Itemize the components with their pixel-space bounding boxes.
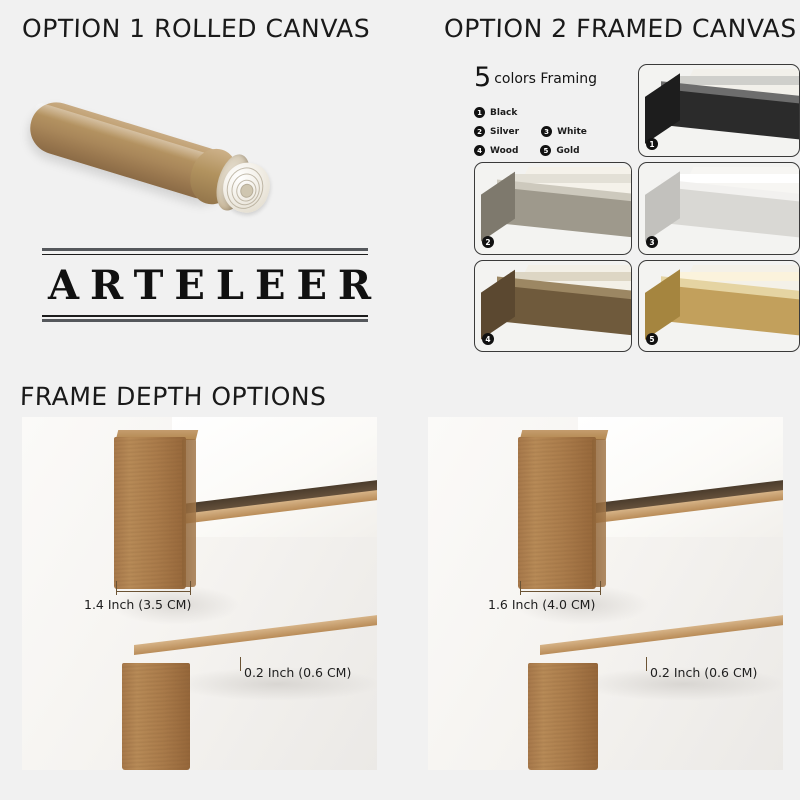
framing-legend-count: 5	[474, 62, 491, 93]
rolled-canvas-illustration	[24, 62, 292, 202]
frame-swatch-gold[interactable]: 5	[638, 260, 800, 352]
frame-stile	[114, 437, 186, 589]
frame-corner-icon	[639, 65, 799, 156]
frame-swatch-wood[interactable]: 4	[474, 260, 632, 352]
shipping-tube-icon	[19, 81, 283, 236]
dim-tick-right	[600, 581, 601, 595]
number-badge-icon: 3	[646, 236, 658, 248]
framing-legend-item-white[interactable]: 3White	[541, 126, 587, 137]
dim-tick-thickness	[240, 657, 241, 671]
framing-legend-heading-text: colors Framing	[494, 71, 597, 87]
depth-dimension-label: 1.4 Inch (3.5 CM)	[84, 597, 191, 612]
frame-stile-side	[592, 439, 606, 587]
brand-logo: ARTELEER	[42, 248, 368, 322]
framing-legend-label: Wood	[490, 146, 518, 156]
depth-dimension-label: 1.6 Inch (4.0 CM)	[488, 597, 595, 612]
thickness-dimension-label: 0.2 Inch (0.6 CM)	[650, 665, 757, 680]
frame-depth-photo-right: 1.6 Inch (4.0 CM) 0.2 Inch (0.6 CM)	[428, 417, 783, 770]
framing-legend: 5colors Framing 1Black2Silver3White4Wood…	[474, 64, 622, 156]
option1-title: OPTION 1 ROLLED CANVAS	[22, 14, 371, 43]
frame-swatch-silver[interactable]: 2	[474, 162, 632, 255]
dim-line-depth	[520, 591, 600, 592]
frame-color-swatch-grid: 5colors Framing 1Black2Silver3White4Wood…	[470, 62, 800, 352]
dim-line-depth	[116, 591, 190, 592]
frame-depth-photo-left: 1.4 Inch (3.5 CM) 0.2 Inch (0.6 CM)	[22, 417, 377, 770]
frame-depth-title: FRAME DEPTH OPTIONS	[20, 382, 327, 411]
framing-legend-rows: 1Black2Silver3White4Wood5Gold	[474, 107, 622, 156]
brand-rule-top-thick	[42, 248, 368, 251]
frame-stile-side	[182, 439, 196, 587]
frame-corner-icon	[475, 163, 631, 254]
number-badge-icon: 4	[474, 145, 485, 156]
brand-rule-bottom-thick	[42, 319, 368, 322]
framing-legend-label: Black	[490, 108, 517, 118]
number-badge-icon: 5	[646, 333, 658, 345]
framing-legend-row: 1Black	[474, 107, 622, 118]
brand-name: ARTELEER	[42, 255, 368, 315]
number-badge-icon: 2	[474, 126, 485, 137]
dim-tick-right	[190, 581, 191, 595]
dim-tick-left	[520, 581, 521, 595]
framing-legend-item-gold[interactable]: 5Gold	[540, 145, 579, 156]
number-badge-icon: 1	[646, 138, 658, 150]
number-badge-icon: 3	[541, 126, 552, 137]
thickness-dimension-label: 0.2 Inch (0.6 CM)	[244, 665, 351, 680]
number-badge-icon: 2	[482, 236, 494, 248]
framing-legend-row: 4Wood5Gold	[474, 145, 622, 156]
swatch-side-return	[645, 73, 680, 144]
framing-legend-item-black[interactable]: 1Black	[474, 107, 517, 118]
number-badge-icon: 1	[474, 107, 485, 118]
framing-legend-row: 2Silver3White	[474, 126, 622, 137]
swatch-side-return	[645, 171, 680, 242]
dim-tick-thickness	[646, 657, 647, 671]
framing-legend-label: Gold	[556, 146, 579, 156]
framing-legend-label: Silver	[490, 127, 519, 137]
swatch-side-return	[645, 269, 680, 340]
number-badge-icon: 5	[540, 145, 551, 156]
frame-corner-icon	[475, 261, 631, 351]
framing-legend-heading: 5colors Framing	[474, 64, 622, 91]
number-badge-icon: 4	[482, 333, 494, 345]
framing-legend-label: White	[557, 127, 587, 137]
frame-corner-icon	[639, 163, 799, 254]
framing-legend-item-wood[interactable]: 4Wood	[474, 145, 518, 156]
frame-stile	[518, 437, 596, 589]
dim-tick-left	[116, 581, 117, 595]
swatch-side-return	[481, 171, 515, 241]
framing-legend-item-silver[interactable]: 2Silver	[474, 126, 519, 137]
option2-title: OPTION 2 FRAMED CANVAS	[444, 14, 797, 43]
frame-corner-icon	[639, 261, 799, 351]
swatch-side-return	[481, 269, 515, 339]
frame-swatch-black[interactable]: 1	[638, 64, 800, 157]
frame-swatch-white[interactable]: 3	[638, 162, 800, 255]
brand-rule-bottom-thin	[42, 315, 368, 317]
